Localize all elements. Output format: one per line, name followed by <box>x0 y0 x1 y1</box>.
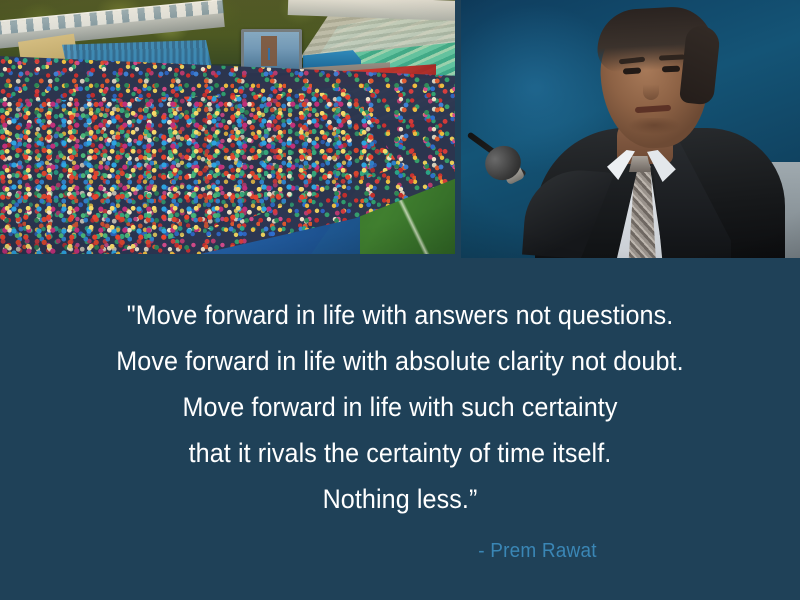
quote-panel: "Move forward in life with answers not q… <box>0 258 800 600</box>
quote-line: Move forward in life with such certainty <box>28 384 772 430</box>
quote-line: Move forward in life with absolute clari… <box>28 338 772 384</box>
quote-text: "Move forward in life with answers not q… <box>0 292 800 522</box>
quote-line: that it rivals the certainty of time its… <box>28 430 772 476</box>
quote-slide: "Move forward in life with answers not q… <box>0 0 800 600</box>
crowd-event-photo <box>0 0 455 254</box>
quote-line: Nothing less.” <box>28 476 772 522</box>
crowd-photo-vignette <box>0 0 455 254</box>
speaker-portrait-photo <box>461 0 800 258</box>
photo-band <box>0 0 800 258</box>
quote-attribution: - Prem Rawat <box>40 540 800 563</box>
quote-line: "Move forward in life with answers not q… <box>28 292 772 338</box>
portrait-photo-vignette <box>461 0 800 258</box>
